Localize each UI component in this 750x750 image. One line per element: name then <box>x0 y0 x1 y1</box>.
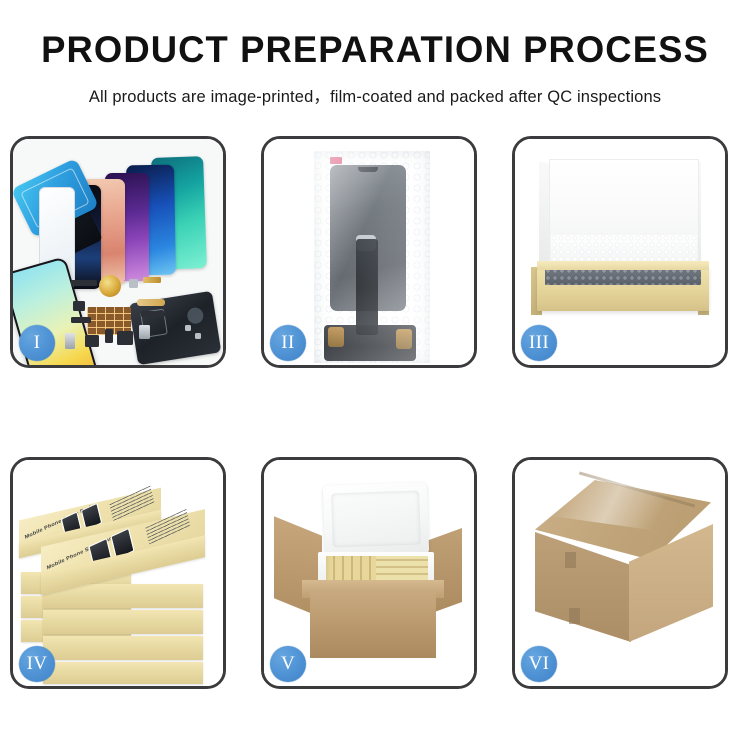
component-speaker <box>117 331 133 345</box>
gold-box <box>43 610 203 634</box>
step-badge-5: V <box>270 646 306 682</box>
component-flex-cable <box>143 277 161 283</box>
carton-front-panel <box>310 590 436 658</box>
process-step-4[interactable]: Mobile Phone Spare Parts Mobile Phone Sp… <box>10 457 226 689</box>
component-connector <box>65 333 75 349</box>
gold-box <box>43 662 203 684</box>
component-battery <box>139 325 150 339</box>
component-chip <box>73 301 85 311</box>
component-button <box>105 329 113 343</box>
process-step-1[interactable]: I <box>10 136 226 368</box>
component-screw <box>195 333 201 339</box>
process-step-5[interactable]: V <box>261 457 477 689</box>
component-chip <box>141 311 165 317</box>
process-step-2[interactable]: II <box>261 136 477 368</box>
page-subtitle: All products are image-printed，film-coat… <box>0 83 750 107</box>
step-badge-3: III <box>521 325 557 361</box>
step-badge-2: II <box>270 325 306 361</box>
step-badge-1: I <box>19 325 55 361</box>
component-chip <box>129 279 138 288</box>
wireless-charging-coil <box>99 275 121 297</box>
carton-tape-mark <box>569 608 580 624</box>
component-camera <box>85 335 99 347</box>
component-flex-cable <box>137 299 165 306</box>
gold-box <box>43 636 203 660</box>
page-header: PRODUCT PREPARATION PROCESS All products… <box>0 0 750 107</box>
process-step-3[interactable]: III <box>512 136 728 368</box>
process-steps-grid: I II <box>10 136 740 689</box>
step-badge-4: IV <box>19 646 55 682</box>
gold-contact-tab <box>396 329 412 349</box>
gold-box-front-lip <box>537 261 709 270</box>
gold-contact-tab <box>328 327 344 347</box>
pink-qc-sticker <box>330 157 342 164</box>
component-chip <box>71 317 91 323</box>
component-screw <box>185 325 191 331</box>
component-chip <box>71 280 97 286</box>
process-step-6[interactable]: VI <box>512 457 728 689</box>
page-title: PRODUCT PREPARATION PROCESS <box>6 31 745 70</box>
lcd-flex-cable <box>356 239 378 335</box>
foam-box-lid <box>323 482 429 558</box>
carton-tape-mark <box>565 552 576 568</box>
step-badge-6: VI <box>521 646 557 682</box>
